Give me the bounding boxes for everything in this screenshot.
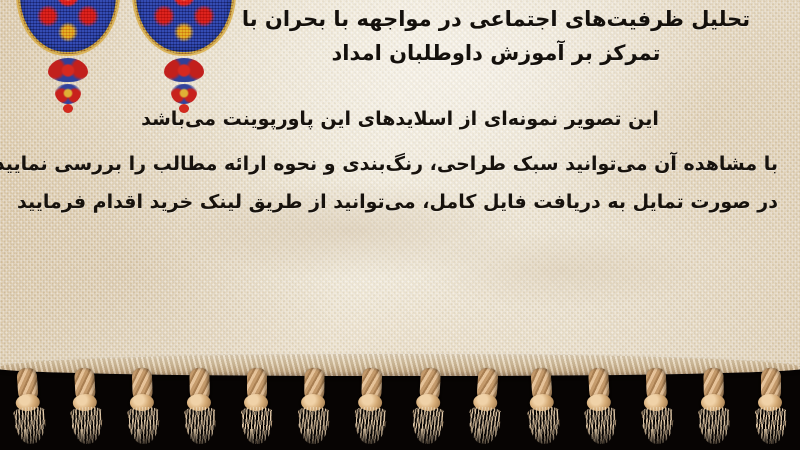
fringe-tassel <box>297 368 332 445</box>
tassel-strands <box>467 406 502 445</box>
body-line-1: این تصویر نمونه‌ای از اسلایدهای این پاور… <box>22 108 778 130</box>
fringe-tassel <box>697 368 732 445</box>
fringe-tassel <box>466 367 505 445</box>
medallion-body <box>18 0 118 54</box>
tassel-strands <box>70 406 104 445</box>
fringe-tassel <box>523 367 562 445</box>
knotted-tassel-fringe <box>0 366 800 450</box>
tassel-strands <box>698 407 731 445</box>
tassel-strands <box>13 406 48 445</box>
medallion-drop-large <box>48 58 88 82</box>
tassel-strands <box>641 406 674 444</box>
tassel-strands <box>127 406 160 444</box>
selvedge-thread-texture <box>0 354 800 376</box>
fringe-tassel <box>240 368 274 444</box>
fringe-tassel <box>125 367 162 444</box>
fringe-tassel <box>9 367 48 445</box>
fringe-tassel <box>581 367 619 445</box>
tassel-strands <box>411 406 445 445</box>
carpet-knot-texture <box>18 0 118 54</box>
body-line-2: با مشاهده آن می‌توانید سبک طراحی، رنگ‌بن… <box>22 153 778 175</box>
tassel-strands <box>755 407 787 444</box>
fringe-tassel <box>67 367 105 445</box>
slide-title: تحلیل ظرفیت‌های اجتماعی در مواجهه با بحر… <box>216 2 776 70</box>
slide-body: این تصویر نمونه‌ای از اسلایدهای این پاور… <box>22 108 778 213</box>
tassel-strands <box>527 406 562 445</box>
slide-canvas: تحلیل ظرفیت‌های اجتماعی در مواجهه با بحر… <box>0 0 800 450</box>
tassel-strands <box>298 407 331 445</box>
tassel-strands <box>354 406 387 444</box>
fringe-selvedge-cord <box>0 354 800 376</box>
medallion-head <box>16 0 120 58</box>
persian-medallion-pendant-icon <box>16 0 120 104</box>
medallion-drop-medium <box>171 84 197 104</box>
body-line-3: در صورت تمایل به دریافت فایل کامل، می‌تو… <box>22 191 778 213</box>
medallion-drop-medium <box>55 84 81 104</box>
fringe-tassel <box>754 368 788 444</box>
tassel-strands <box>184 407 217 445</box>
fringe-tassel <box>353 367 390 444</box>
tassel-strands <box>241 407 273 444</box>
fringe-tassel <box>410 367 448 445</box>
fringe-tassel <box>182 368 217 445</box>
medallion-drop-large <box>164 58 204 82</box>
fringe-tassel <box>639 367 676 444</box>
tassel-strands <box>584 406 618 445</box>
